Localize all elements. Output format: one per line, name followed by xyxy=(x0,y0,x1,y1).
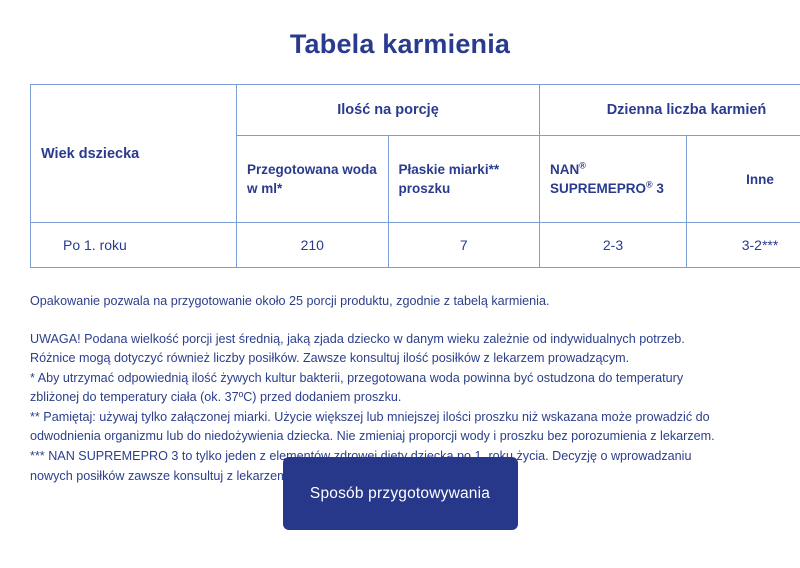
preparation-method-button[interactable]: Sposób przygotowywania xyxy=(283,457,518,530)
notice-line-2: Różnice mogą dotyczyć również liczby pos… xyxy=(30,349,770,369)
cell-scoops: 7 xyxy=(388,223,540,268)
header-scoops-line2: proszku xyxy=(399,181,451,196)
header-nan-brand: NAN xyxy=(550,162,579,177)
table-row: Po 1. roku 210 7 2-3 3-2*** xyxy=(31,223,800,268)
feeding-table: Wiek dsziecka Ilość na porcję Dzienna li… xyxy=(30,84,800,268)
cell-water-ml: 210 xyxy=(237,223,389,268)
cell-other-feedings: 3-2*** xyxy=(687,223,800,268)
header-daily-line2: karmień xyxy=(711,102,767,118)
header-other: Inne xyxy=(687,136,800,223)
cta-row: Sposób przygotowywania xyxy=(0,457,800,530)
footnote-1-line-1: * Aby utrzymać odpowiednią ilość żywych … xyxy=(30,369,770,389)
cell-nan-feedings: 2-3 xyxy=(540,223,687,268)
header-nan-stage: 3 xyxy=(653,181,664,196)
footnote-2-line-2: odwodnienia organizmu lub do niedożywien… xyxy=(30,427,770,447)
registered-icon: ® xyxy=(579,160,586,170)
header-water-line1: Przegotowana xyxy=(247,162,339,177)
feeding-table-wrapper: Wiek dsziecka Ilość na porcję Dzienna li… xyxy=(30,84,770,268)
header-portion-group: Ilość na porcję xyxy=(237,85,540,136)
header-scoops: Płaskie miarki** proszku xyxy=(388,136,540,223)
header-daily-group: Dzienna liczba karmień xyxy=(540,85,800,136)
intro-paragraph: Opakowanie pozwala na przygotowanie okoł… xyxy=(30,292,770,312)
header-nan-line2: SUPREMEPRO® 3 xyxy=(550,181,664,196)
notice-line-1: UWAGA! Podana wielkość porcji jest średn… xyxy=(30,330,770,350)
header-age: Wiek dsziecka xyxy=(31,85,237,223)
footnote-2-line-1: ** Pamiętaj: używaj tylko załączonej mia… xyxy=(30,408,770,428)
header-water: Przegotowana woda w ml* xyxy=(237,136,389,223)
header-age-line2: dsziecka xyxy=(79,146,139,162)
header-daily-line1: Dzienna liczba xyxy=(607,102,707,118)
page-title: Tabela karmienia xyxy=(0,0,800,60)
header-nan-line1: NAN® xyxy=(550,162,586,177)
header-scoops-line1: Płaskie miarki** xyxy=(399,162,500,177)
header-row-groups: Wiek dsziecka Ilość na porcję Dzienna li… xyxy=(31,85,800,136)
feeding-table-body: Po 1. roku 210 7 2-3 3-2*** xyxy=(31,223,800,268)
header-nan-product: SUPREMEPRO xyxy=(550,181,646,196)
cell-age: Po 1. roku xyxy=(31,223,237,268)
header-age-line1: Wiek xyxy=(41,146,75,162)
feeding-table-head: Wiek dsziecka Ilość na porcję Dzienna li… xyxy=(31,85,800,223)
footnote-1-line-2: zbliżonej do temperatury ciała (ok. 37ºC… xyxy=(30,388,770,408)
header-nan-supremepro: NAN® SUPREMEPRO® 3 xyxy=(540,136,687,223)
registered-icon: ® xyxy=(646,180,653,190)
